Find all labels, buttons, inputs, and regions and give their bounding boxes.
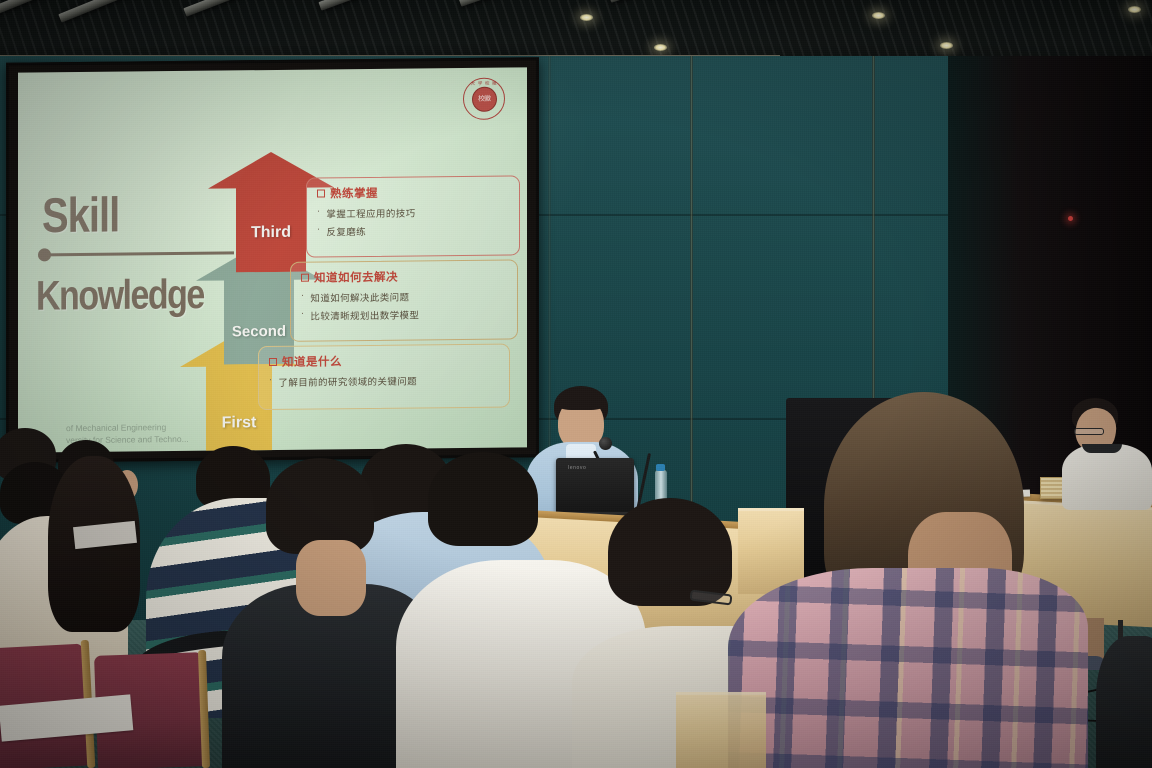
checkbox-icon (317, 189, 325, 197)
bullet-text: 知道如何解决此类问题 (310, 290, 409, 305)
projection-screen-frame: 大 学 校 徽 校徽 Skill Knowledge First Second (6, 57, 539, 463)
logo-center: 校徽 (472, 86, 497, 111)
list-item: ·了解目前的研究领域的关键问题 (269, 373, 499, 389)
slide-box-heading-text: 知道是什么 (282, 353, 342, 370)
presentation-slide: 大 学 校 徽 校徽 Skill Knowledge First Second (18, 67, 527, 452)
assistant-torso (1062, 444, 1152, 510)
laptop-brand-label: lenovo (568, 465, 586, 471)
slide-box-third: 熟练掌握 ·掌握工程应用的技巧 ·反复磨练 (306, 175, 520, 257)
ceiling-spotlight (872, 12, 885, 19)
presenter-fringe (556, 390, 606, 410)
step-label-third: Third (251, 224, 291, 242)
university-logo-icon: 大 学 校 徽 校徽 (463, 78, 505, 120)
slide-box-heading: 知道如何去解决 (301, 268, 507, 286)
bullet-icon: · (317, 206, 320, 220)
ceiling-spotlight (1128, 6, 1141, 13)
bullet-icon: · (269, 375, 272, 389)
list-item: ·知道如何解决此类问题 (301, 289, 507, 305)
checkbox-icon (269, 358, 277, 366)
checkbox-icon (301, 274, 309, 282)
lecture-hall-photo: 大 学 校 徽 校徽 Skill Knowledge First Second (0, 0, 1152, 768)
bullet-text: 比较清晰规划出数学模型 (310, 307, 419, 322)
bullet-text: 掌握工程应用的技巧 (326, 206, 415, 221)
list-item (428, 452, 538, 546)
glasses-icon (1074, 428, 1104, 435)
list-item (1096, 636, 1152, 768)
list-item: ·掌握工程应用的技巧 (317, 205, 509, 221)
plaid-shirt-attendee (728, 568, 1088, 768)
step-label-second: Second (232, 323, 286, 341)
slide-box-bullets: ·了解目前的研究领域的关键问题 (269, 373, 499, 389)
bullet-icon: · (317, 224, 320, 238)
assistant-collar (1082, 444, 1122, 453)
list-item (296, 540, 366, 616)
slide-box-bullets: ·掌握工程应用的技巧 ·反复磨练 (317, 205, 509, 239)
slide-box-first: 知道是什么 ·了解目前的研究领域的关键问题 (258, 344, 510, 411)
ceiling-spotlight (940, 42, 953, 49)
bottle-cap (656, 464, 665, 471)
bullet-text: 反复磨练 (326, 224, 366, 238)
step-label-first: First (222, 414, 257, 432)
slide-box-bullets: ·知道如何解决此类问题 ·比较清晰规划出数学模型 (301, 289, 507, 323)
slide-box-heading-text: 熟练掌握 (330, 185, 378, 202)
bullet-icon: · (301, 309, 304, 323)
indicator-light-icon (1068, 216, 1073, 221)
slide-box-second: 知道如何去解决 ·知道如何解决此类问题 ·比较清晰规划出数学模型 (290, 259, 518, 341)
list-item: ·比较清晰规划出数学模型 (301, 307, 507, 323)
ceiling-spotlight (654, 44, 667, 51)
microphone-head-icon (599, 437, 612, 450)
slide-label-skill: Skill (42, 189, 119, 245)
slide-box-heading: 知道是什么 (269, 352, 499, 370)
bullet-icon: · (301, 291, 304, 305)
slide-label-knowledge: Knowledge (36, 271, 204, 320)
ceiling-spotlight (580, 14, 593, 21)
assistant-student (1056, 398, 1152, 502)
bullet-text: 了解目前的研究领域的关键问题 (278, 373, 417, 388)
slide-box-heading: 熟练掌握 (317, 184, 509, 202)
slide-box-heading-text: 知道如何去解决 (314, 269, 398, 286)
logo-ring-text: 大 学 校 徽 (464, 81, 504, 87)
list-item: ·反复磨练 (317, 223, 509, 239)
front-desk (676, 692, 766, 768)
list-item (608, 498, 732, 606)
